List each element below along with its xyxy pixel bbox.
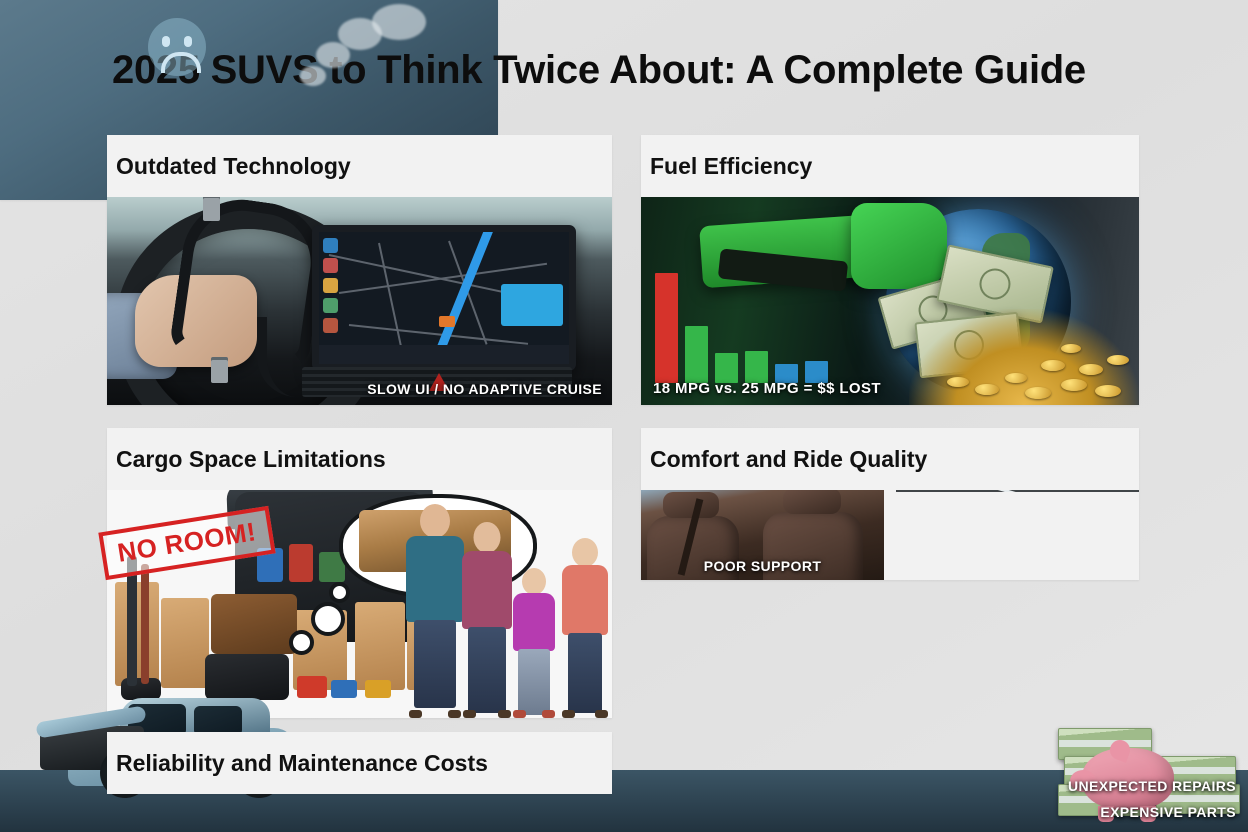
infographic-page: 2025 SUVS to Think Twice About: A Comple… [0, 0, 1248, 832]
navigation-map [319, 232, 569, 364]
section-heading: Fuel Efficiency [650, 153, 812, 180]
section-heading: Outdated Technology [116, 153, 351, 180]
section-header: Fuel Efficiency [641, 135, 1139, 197]
map-media-icon [323, 278, 338, 293]
section-image-outdated-technology: SLOW UI / NO ADAPTIVE CRUISE [107, 197, 612, 405]
page-title: 2025 SUVS to Think Twice About: A Comple… [112, 48, 1086, 93]
chart-bar [715, 353, 738, 383]
section-heading: Cargo Space Limitations [116, 446, 386, 473]
chart-bar [655, 273, 678, 383]
image-caption: 18 MPG vs. 25 MPG = $$ LOST [653, 380, 881, 397]
image-caption: SLOW UI / NO ADAPTIVE CRUISE [367, 381, 602, 397]
map-info-tile [501, 284, 563, 326]
toy-icon [297, 676, 327, 698]
section-image-fuel-efficiency: 18 MPG vs. 25 MPG = $$ LOST [641, 197, 1139, 405]
road-noise-image: EXCESSIVE CABIN NOISE [896, 490, 1139, 492]
fuel-nozzle-head [851, 203, 947, 289]
person-figure [559, 538, 611, 718]
section-card-comfort-and-ride-quality: Comfort and Ride Quality POOR SUPPORT [641, 428, 1139, 580]
section-card-reliability-and-maintenance-costs: Reliability and Maintenance Costs [107, 732, 612, 794]
person-figure [403, 504, 467, 718]
section-header: Cargo Space Limitations [107, 428, 612, 490]
smoke-puff [300, 66, 326, 86]
map-menu-icon [323, 238, 338, 253]
smoke-puff [372, 4, 426, 40]
sad-face-icon [148, 18, 206, 76]
usb-connector-icon [203, 197, 220, 221]
section-card-outdated-technology: Outdated Technology [107, 135, 612, 405]
toy-icon [365, 680, 391, 698]
person-figure [511, 568, 557, 718]
section-card-cargo-space-limitations: Cargo Space Limitations [107, 428, 612, 718]
thought-bubble-dot [311, 602, 345, 636]
toy-icon [331, 680, 357, 698]
thought-bubble-dot [329, 582, 350, 603]
image-caption: POOR SUPPORT [704, 558, 822, 574]
vehicle-marker-icon [439, 316, 455, 327]
section-header: Outdated Technology [107, 135, 612, 197]
infotainment-screen [312, 225, 576, 371]
seats-image: POOR SUPPORT [641, 490, 884, 580]
map-home-icon [323, 318, 338, 333]
usb-connector-icon [211, 357, 228, 383]
suitcase-icon [211, 594, 297, 654]
grocery-bag-icon [115, 582, 159, 686]
screen-status-bar [319, 345, 569, 364]
gold-coins-pile [909, 309, 1139, 405]
section-header: Comfort and Ride Quality [641, 428, 1139, 490]
ski-pole-icon [141, 564, 149, 684]
fuel-bar-chart [655, 273, 828, 383]
bag-icon [289, 544, 313, 582]
map-phone-icon [323, 258, 338, 273]
chart-bar [685, 326, 708, 383]
chart-bar [745, 351, 768, 383]
grocery-bag-icon [161, 598, 209, 688]
section-image-comfort: POOR SUPPORT EXCESSIVE CABIN NOISE [641, 490, 1139, 580]
section-heading: Reliability and Maintenance Costs [116, 750, 488, 777]
thought-bubble-dot [289, 630, 314, 655]
person-figure [459, 522, 515, 718]
section-card-fuel-efficiency: Fuel Efficiency [641, 135, 1139, 405]
section-header: Reliability and Maintenance Costs [107, 732, 612, 794]
map-settings-icon [323, 298, 338, 313]
section-heading: Comfort and Ride Quality [650, 446, 927, 473]
grocery-bag-icon [355, 602, 405, 690]
